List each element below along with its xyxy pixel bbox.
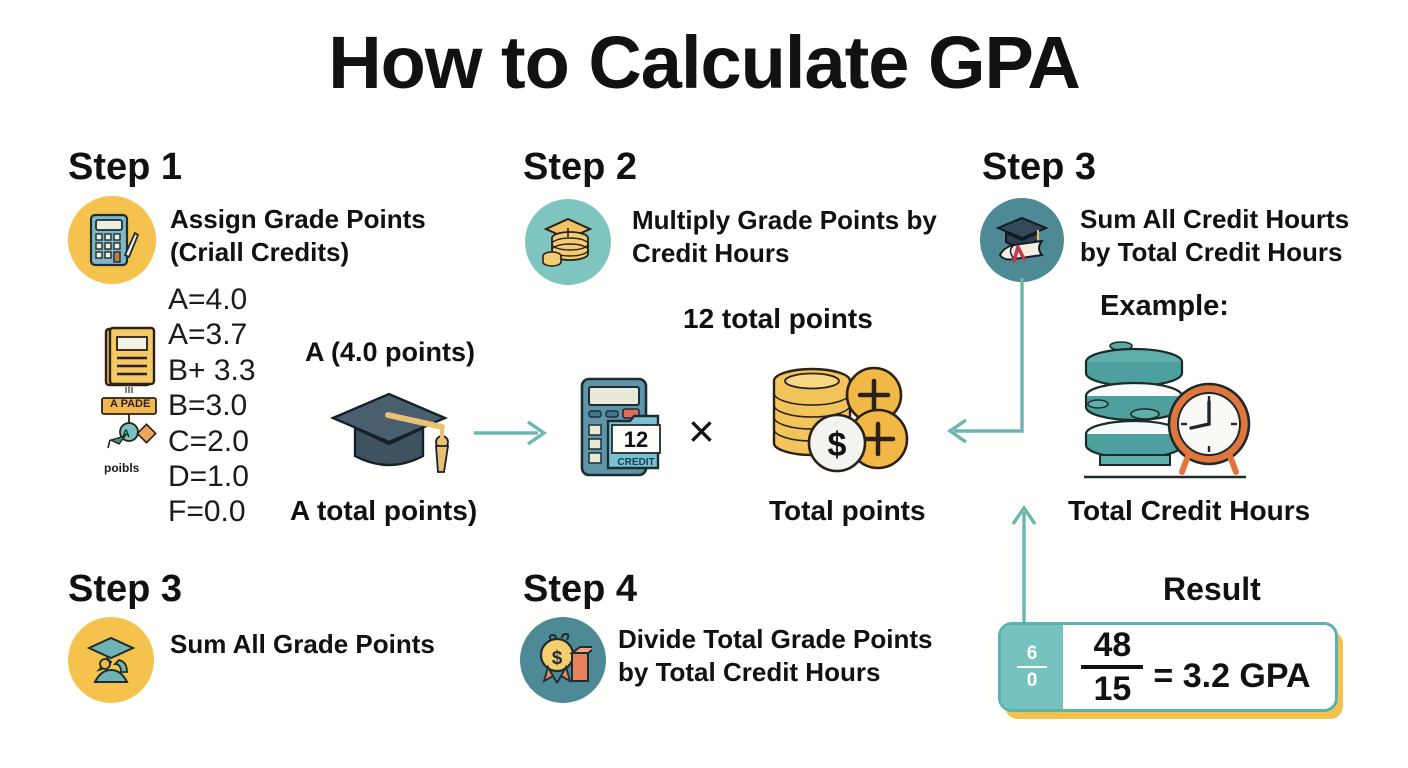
step-3-bottom-text-line1: Sum All Grade Points	[170, 628, 510, 661]
step-4-text-line2: by Total Credit Hours	[618, 656, 968, 689]
step-3-top-text: Sum All Credit Hourts by Total Credit Ho…	[1080, 203, 1408, 270]
result-label: Result	[1163, 570, 1261, 608]
result-tab-numerator: 6	[1017, 644, 1047, 663]
step-3-top-text-line2: by Total Credit Hours	[1080, 236, 1408, 269]
result-equals-text: = 3.2 GPA	[1153, 657, 1310, 696]
step-1-heading: Step 1	[68, 148, 182, 186]
badge-caption: poibls	[104, 461, 139, 475]
result-numerator: 48	[1081, 628, 1143, 662]
notebook-icon	[100, 325, 162, 402]
connector-arrow-up-icon	[1004, 500, 1044, 624]
coins-stack-icon: $	[765, 363, 911, 486]
example-label: Example:	[1100, 289, 1229, 324]
grade-example-top-label: A (4.0 points)	[305, 336, 475, 368]
diploma-graduation-cap-icon	[980, 198, 1064, 282]
total-points-header: 12 total points	[683, 302, 873, 336]
result-body: 48 15 = 3.2 GPA	[1063, 625, 1335, 709]
step-4-heading: Step 4	[523, 570, 637, 608]
step-1-text-line2: (Criall Credits)	[170, 236, 500, 269]
graduation-cap-icon	[325, 386, 457, 491]
step-3-heading: Step 3	[982, 148, 1096, 186]
step-3-top-text-line1: Sum All Credit Hourts	[1080, 203, 1408, 236]
svg-text:CREDIT: CREDIT	[617, 457, 654, 468]
grade-scale-item: A=4.0	[168, 282, 256, 317]
coins-graduation-cap-icon	[525, 199, 611, 285]
svg-text:12: 12	[624, 427, 648, 452]
result-fraction-bar	[1081, 665, 1143, 669]
grade-scale-list: A=4.0 A=3.7 B+ 3.3 B=3.0 C=2.0 D=1.0 F=0…	[168, 282, 256, 530]
grade-scale-item: C=2.0	[168, 424, 256, 459]
infographic-canvas: How to Calculate GPA Step 1 Assign Grade…	[0, 0, 1408, 768]
badge-label: A PADE	[110, 398, 150, 410]
step-1-text-line1: Assign Grade Points	[170, 203, 500, 236]
result-tab-fraction: 6 0	[1017, 644, 1047, 690]
step-3-bottom-heading: Step 3	[68, 570, 182, 608]
connector-arrow-left-icon	[930, 278, 1040, 448]
step-3-bottom-text: Sum All Grade Points	[170, 628, 510, 661]
step-2-text-line2: Credit Hours	[632, 237, 972, 270]
step-4-text: Divide Total Grade Points by Total Credi…	[618, 623, 968, 690]
money-bag-box-icon: $	[520, 617, 606, 703]
page-title: How to Calculate GPA	[0, 26, 1408, 100]
multiply-symbol: ×	[688, 408, 715, 454]
arrow-right-icon	[472, 416, 554, 450]
result-card: 6 0 48 15 = 3.2 GPA	[998, 622, 1338, 712]
step-2-heading: Step 2	[523, 148, 637, 186]
result-tab-bar	[1017, 666, 1047, 668]
svg-text:$: $	[828, 426, 847, 464]
calculator-12-icon: 12 CREDIT	[578, 375, 668, 486]
grade-example-bottom-label: A total points)	[290, 494, 477, 528]
result-denominator: 15	[1081, 672, 1143, 706]
calculator-icon	[68, 196, 156, 284]
step-2-text: Multiply Grade Points by Credit Hours	[632, 204, 972, 271]
grade-scale-item: F=0.0	[168, 494, 256, 529]
step-1-text: Assign Grade Points (Criall Credits)	[170, 203, 500, 270]
grade-scale-item: B=3.0	[168, 388, 256, 423]
total-credit-hours-label: Total Credit Hours	[1068, 494, 1310, 528]
result-fraction: 48 15	[1081, 628, 1143, 706]
grade-scale-item: A=3.7	[168, 317, 256, 352]
step-2-text-line1: Multiply Grade Points by	[632, 204, 972, 237]
result-tab: 6 0	[1001, 625, 1063, 709]
svg-text:$: $	[552, 648, 563, 669]
result-tab-denominator: 0	[1017, 671, 1047, 690]
credit-hours-clock-icon	[1078, 336, 1256, 489]
grade-points-icon	[68, 617, 154, 703]
grade-scale-item: B+ 3.3	[168, 353, 256, 388]
step-4-text-line1: Divide Total Grade Points	[618, 623, 968, 656]
badge-circle-letter: A	[122, 428, 130, 440]
total-points-label: Total points	[769, 494, 926, 528]
grade-scale-item: D=1.0	[168, 459, 256, 494]
